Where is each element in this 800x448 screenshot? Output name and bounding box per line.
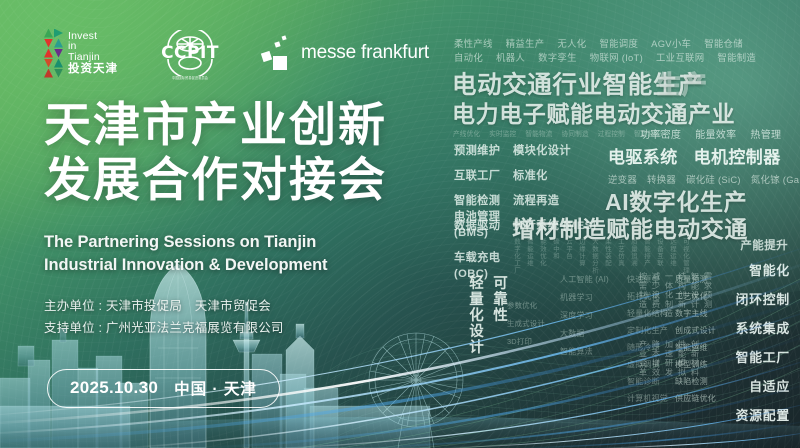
cloud-word: 流程再造	[513, 192, 597, 208]
messe-wordmark: messe frankfurt	[301, 42, 429, 64]
cloud-word: 智能检测	[454, 192, 500, 208]
cloud-word: 能效优化	[538, 238, 547, 267]
cloud-word: 柔性装配	[603, 238, 612, 267]
cloud-word: 模块化设计	[513, 142, 597, 158]
poster-canvas: Invest in Tianjin 投资天津 CCPIT 中国国际贸易促进委员会	[0, 0, 800, 448]
cloud-word: 数字孪生	[538, 50, 577, 64]
cloud-word: 协同制造	[562, 128, 589, 138]
cloud-row-top-2: 自动化 机器人 数字孪生 物联网 (IoT) 工业互联网 智能制造	[454, 50, 756, 64]
cloud-word: 创成式设计	[675, 325, 716, 336]
cloud-col-ai-2: 人工智能 (AI) 机器学习 深度学习 大数据 智能算法	[560, 274, 609, 357]
cloud-word: (BMS)	[454, 227, 500, 239]
cloud-word: 边缘计算	[577, 238, 586, 267]
cloud-word: 可视化管理	[681, 238, 690, 274]
cloud-word: 智能化	[736, 260, 790, 279]
messe-frankfurt-mark-icon	[262, 36, 292, 70]
cloud-word: 参数优化	[507, 300, 545, 311]
cloud-word: 大数据	[560, 328, 609, 339]
supporter-line: 支持单位 : 广州光亚法兰克福展览有限公司	[44, 318, 284, 340]
cloud-word: 车载充电	[454, 249, 500, 265]
date-location-badge: 2025.10.30 中国 · 天津	[47, 369, 280, 408]
organizer-line: 主办单位 : 天津市投促局 天津市贸促会	[44, 296, 284, 318]
cloud-word: 功率密度	[640, 126, 681, 141]
cloud-word: 设备互联	[655, 238, 664, 267]
cloud-word: 云平台	[564, 238, 573, 260]
ccpit-subtitle: 中国国际贸易促进委员会	[158, 75, 222, 80]
cloud-word: 质量追溯	[629, 238, 638, 267]
cloud-word: 定制化生产	[627, 325, 668, 336]
cloud-word: 供应链优化	[675, 393, 716, 404]
cloud-word: 一体化制造	[662, 272, 674, 318]
cloud-word: 互联工厂	[454, 167, 500, 183]
subtitle-line2: Industrial Innovation & Development	[44, 254, 327, 277]
cloud-word: 自动化	[454, 50, 483, 64]
cloud-word: 能量效率	[695, 126, 736, 141]
logo-ccpit: CCPIT 中国国际贸易促进委员会	[158, 28, 222, 78]
headline-line2: 发展合作对接会	[44, 153, 387, 208]
cloud-word: 智能物流	[525, 128, 552, 138]
logo-invest-in-tianjin: Invest in Tianjin 投资天津	[44, 29, 118, 78]
cloud-word: 大数据分析	[590, 238, 599, 274]
cloud-word: 数字化工厂	[512, 238, 521, 274]
cloud-row-top-1: 柔性产线 精益生产 无人化 智能调度 AGV小车 智能仓储	[454, 36, 743, 50]
cloud-word: 系统集成	[736, 318, 790, 337]
cloud-word: 标准化	[513, 167, 597, 183]
cloud-word: 深度学习	[560, 310, 609, 321]
cloud-word: 按需制造	[636, 272, 648, 309]
cloud-large-pair: 电驱系统 电机控制器	[608, 143, 781, 168]
cloud-word: 机器人	[496, 50, 525, 64]
cloud-word: 柔性产线	[454, 36, 493, 50]
event-place: 中国 · 天津	[174, 377, 257, 399]
cloud-word: 资源配置	[736, 405, 790, 424]
invest-chinese: 投资天津	[68, 64, 118, 76]
organizers-block: 主办单位 : 天津市投促局 天津市贸促会 支持单位 : 广州光亚法兰克福展览有限…	[44, 296, 284, 339]
cloud-word: 过程控制	[598, 128, 625, 138]
cloud-word: 智能工厂	[736, 347, 790, 366]
cloud-word: 人工智能 (AI)	[560, 274, 609, 285]
cloud-word: 电驱系统	[608, 143, 678, 168]
cloud-word: 计算机视觉	[627, 393, 668, 404]
cloud-word: 工艺仿真	[616, 238, 625, 267]
cloud-word: 远程运维	[668, 238, 677, 267]
cloud-word: 碳中和	[551, 238, 560, 260]
cloud-word: 数字主线	[675, 308, 716, 319]
event-date: 2025.10.30	[70, 378, 158, 398]
logo-messe-frankfurt: messe frankfurt	[262, 36, 429, 70]
cloud-word: 智能制造	[717, 50, 756, 64]
cloud-word: 电机控制器	[694, 143, 781, 168]
invest-logo-text: Invest in Tianjin 投资天津	[68, 31, 118, 76]
cloud-word: 性能模拟	[675, 340, 687, 377]
cloud-word: 产能提升	[740, 237, 788, 253]
cloud-word: 降本增效	[649, 340, 661, 377]
cloud-word: 智能算法	[560, 346, 609, 357]
invest-triangle-mark-icon	[44, 29, 63, 78]
logo-row: Invest in Tianjin 投资天津 CCPIT 中国国际贸易促进委员会	[44, 28, 429, 78]
cloud-word: 电池管理	[454, 208, 500, 224]
headline-line1: 天津市产业创新	[44, 98, 387, 153]
cloud-battery-label: 电池管理 (BMS)	[454, 208, 500, 239]
cloud-word: 智能设计	[688, 272, 700, 309]
cloud-word: 闭环控制	[736, 289, 790, 308]
cloud-right-column: 智能化 闭环控制 系统集成 智能工厂 自适应 资源配置	[736, 260, 790, 434]
cloud-word: 自适应	[736, 376, 790, 395]
word-cloud: 柔性产线 精益生产 无人化 智能调度 AGV小车 智能仓储 自动化 机器人 数字…	[440, 0, 800, 448]
cloud-word: 智能调度	[599, 36, 638, 50]
cloud-capacity-label: 产能提升	[740, 237, 788, 253]
cloud-word: 精益生产	[506, 36, 545, 50]
cloud-word: 智能仓储	[704, 36, 743, 50]
cloud-word: 机器学习	[560, 292, 609, 303]
cloud-word: 热管理	[750, 126, 781, 141]
cloud-word: 产线优化	[453, 128, 480, 138]
cloud-word: 智能运维	[525, 238, 534, 267]
page-title: 天津市产业创新 发展合作对接会	[44, 98, 387, 207]
cloud-word: 需求预测	[701, 272, 713, 309]
cloud-word: 生成式设计	[507, 318, 545, 329]
cloud-word: AGV小车	[651, 36, 691, 50]
invest-line3: Tianjin	[68, 52, 118, 63]
cloud-big-word: 电力电子赋能电动交通产业	[452, 95, 735, 129]
cloud-word: 无人化	[557, 36, 586, 50]
cloud-word: 缺陷检测	[675, 376, 716, 387]
english-subtitle: The Partnering Sessions on Tianjin Indus…	[44, 231, 327, 278]
cloud-word: 减少浪费	[649, 272, 661, 309]
cloud-word: 物联网 (IoT)	[590, 50, 643, 64]
cloud-word: 3D打印	[507, 336, 545, 347]
cloud-word: 工业互联网	[656, 50, 704, 64]
cloud-big-line-2: 电力电子赋能电动交通产业	[452, 95, 735, 129]
cloud-word: 产业变革	[636, 340, 648, 377]
cloud-col-ai-1: 参数优化 生成式设计 3D打印	[507, 300, 545, 347]
cloud-word: 实时监控	[489, 128, 516, 138]
cloud-word: 预测维护	[454, 142, 500, 158]
cloud-word: 结构创新	[675, 272, 687, 309]
cloud-row-mid-1: 功率密度 能量效率 热管理	[640, 126, 781, 141]
cloud-word: 智能排产	[642, 238, 651, 267]
cloud-row-tiny-1: 产线优化 实时监控 智能物流 协同制造 过程控制 智能装配	[453, 128, 661, 138]
cloud-word: 氮化镓 (GaN)	[751, 172, 800, 186]
cloud-vertical-lightweight: 轻量化设计	[465, 275, 486, 355]
cloud-word: 智能诊断	[627, 376, 668, 387]
cloud-word: 创新材料	[688, 340, 700, 377]
ccpit-wordmark: CCPIT	[158, 43, 222, 63]
cloud-word: 加速研发	[662, 340, 674, 377]
subtitle-line1: The Partnering Sessions on Tianjin	[44, 231, 327, 254]
